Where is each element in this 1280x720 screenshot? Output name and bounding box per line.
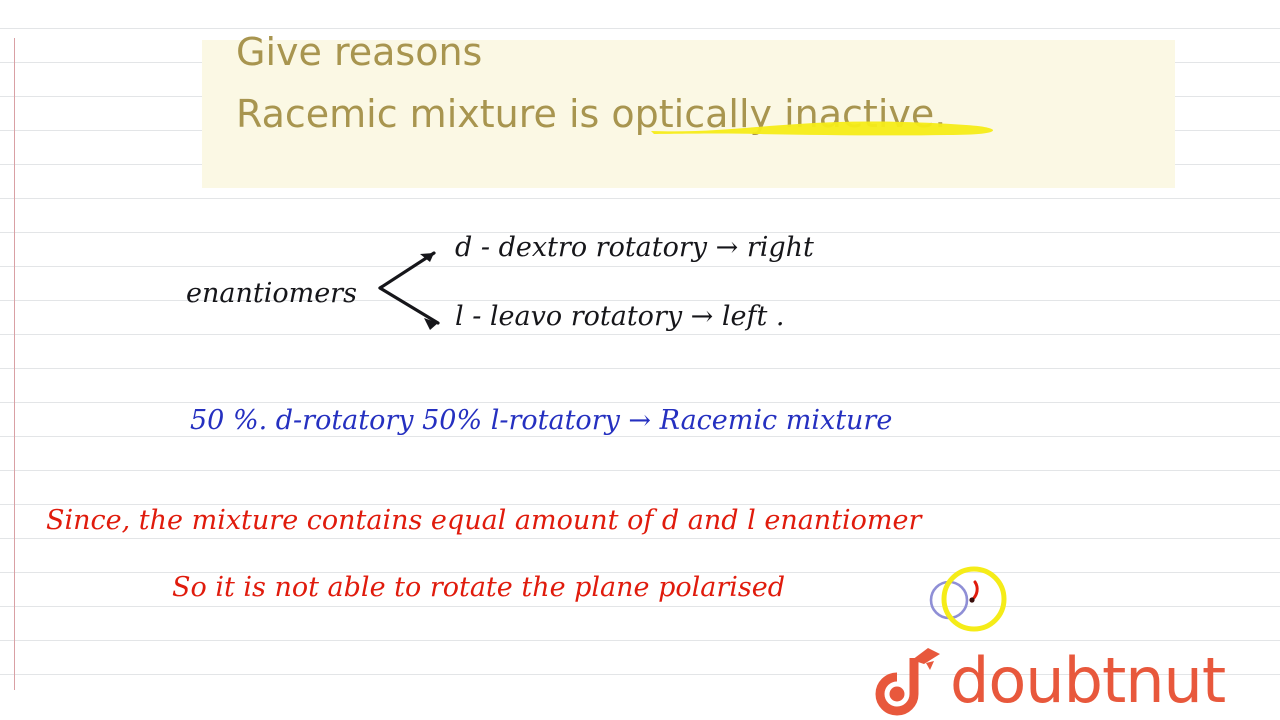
rule-line — [0, 334, 1280, 335]
handwriting-racemic-composition-note: 50 %. d-rotatory 50% l-rotatory → Racemi… — [190, 405, 892, 436]
question-line-statement: Racemic mixture is optically inactive. — [236, 90, 946, 138]
doubtnut-logo: doubtnut — [868, 642, 1225, 720]
cursor-highlight-annotation — [922, 566, 1022, 636]
handwriting-branch-levo: l - leavo rotatory → left . — [455, 301, 785, 332]
rule-line — [0, 538, 1280, 539]
handwriting-explanation-line-2: So it is not able to rotate the plane po… — [172, 572, 785, 603]
question-statement-prefix: Racemic mixture is — [236, 92, 611, 136]
rule-line — [0, 402, 1280, 403]
rule-line — [0, 470, 1280, 471]
handwriting-explanation-line-1: Since, the mixture contains equal amount… — [46, 505, 921, 536]
notebook-page: Give reasons Racemic mixture is opticall… — [0, 0, 1280, 720]
doubtnut-wordmark: doubtnut — [950, 644, 1225, 718]
question-statement-highlighted: optically inactive. — [611, 92, 946, 136]
doubtnut-d-graduation-cap-icon — [868, 644, 942, 718]
handwriting-branch-dextro: d - dextro rotatory → right — [455, 232, 814, 263]
rule-line — [0, 198, 1280, 199]
handwriting-enantiomers-label: enantiomers — [186, 278, 357, 309]
margin-rule-line — [14, 38, 15, 690]
rule-line — [0, 640, 1280, 641]
rule-line — [0, 606, 1280, 607]
rule-line — [0, 436, 1280, 437]
rule-line — [0, 368, 1280, 369]
question-line-give-reasons: Give reasons — [236, 28, 482, 76]
question-block: Give reasons Racemic mixture is opticall… — [202, 40, 1175, 188]
rule-line — [0, 266, 1280, 267]
rule-line — [0, 28, 1280, 29]
